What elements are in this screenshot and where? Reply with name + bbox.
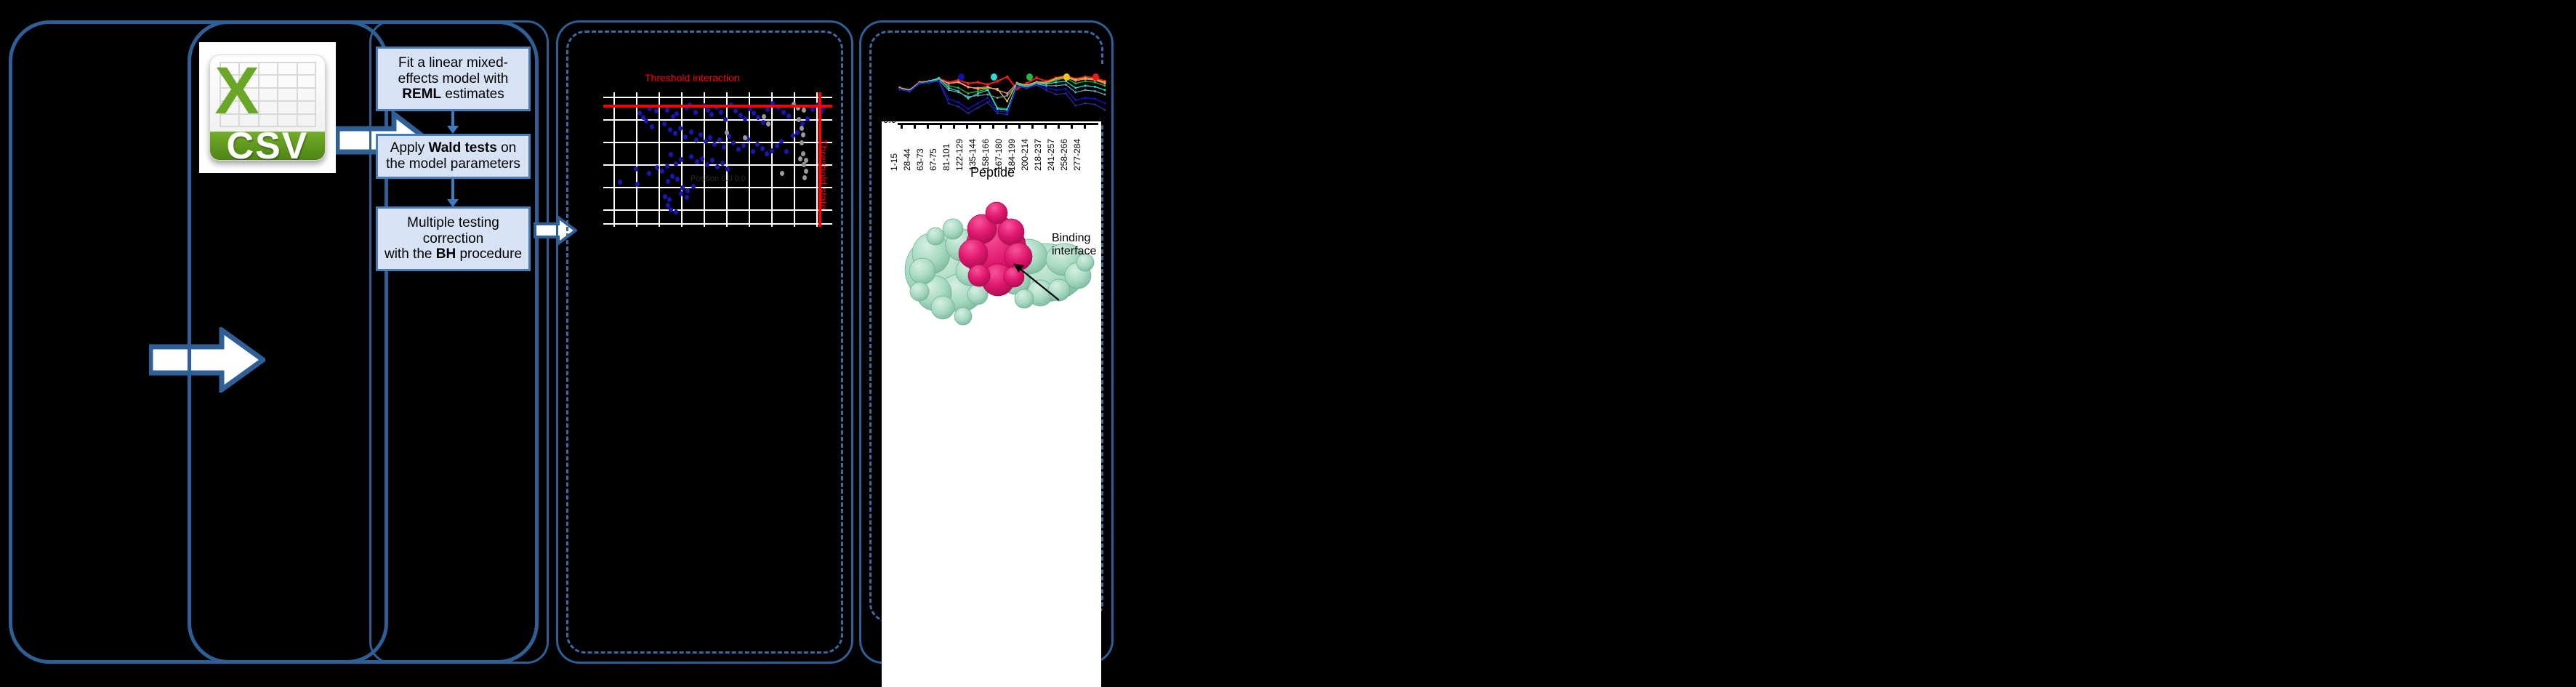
series-point	[909, 91, 911, 93]
x-tick-mark	[1045, 124, 1047, 129]
series-point	[1084, 80, 1087, 82]
series-point	[1016, 85, 1018, 87]
series-point	[1055, 81, 1057, 84]
series-point	[977, 92, 979, 95]
series-point	[1104, 89, 1106, 91]
step-bh: Multiple testing correction with the BH …	[376, 206, 531, 271]
series-point	[1055, 94, 1057, 96]
series-point	[1045, 84, 1047, 87]
x-tick-label: 28-44	[902, 148, 912, 171]
series-point	[1104, 82, 1106, 84]
series-point	[1006, 100, 1008, 103]
series-point	[1094, 103, 1096, 105]
series-point	[1084, 97, 1087, 99]
x-tick-mark	[979, 124, 981, 129]
x-tick-label: 277-284	[1072, 139, 1082, 171]
series-point	[1074, 99, 1076, 101]
pipeline-diagram: X CSV Fit a linear mixed- effects model …	[0, 0, 2576, 687]
series-point	[1084, 78, 1087, 80]
series-point	[967, 92, 970, 95]
series-point	[997, 97, 999, 99]
x-tick-label: 218-237	[1033, 139, 1043, 171]
series-point	[1026, 87, 1028, 89]
step-wald-text: Apply Wald tests on the model parameters	[386, 140, 520, 172]
legend-dot-darkblue	[958, 73, 965, 81]
csv-card: X CSV	[209, 55, 326, 161]
series-point	[957, 91, 959, 93]
series-point	[1055, 79, 1057, 81]
series-point	[997, 112, 999, 114]
model-panel	[369, 20, 549, 664]
series-point	[1065, 88, 1067, 90]
series-point	[986, 89, 989, 91]
series-point	[1055, 89, 1057, 91]
series-point	[1074, 82, 1076, 84]
step-model-fit-text: Fit a linear mixed- effects model with R…	[398, 55, 509, 103]
series-point	[948, 82, 950, 84]
csv-x-letter: X	[214, 57, 256, 105]
x-tick-label: 63-73	[915, 148, 925, 171]
x-tick-label: 81-101	[941, 144, 951, 171]
peptide-line-chart	[890, 64, 1108, 124]
series-point	[977, 95, 979, 97]
connector-1-2-head	[447, 126, 459, 134]
scatter-faint-axis-text: Position 0.0 0.0	[691, 174, 746, 183]
series-point	[986, 101, 989, 103]
series-point	[1006, 95, 1008, 97]
x-tick-mark	[992, 124, 994, 129]
series-point	[1045, 87, 1047, 89]
series-point	[1006, 76, 1009, 79]
series-point	[1074, 105, 1076, 107]
series-point	[957, 101, 959, 103]
threshold-state-label: Threshold state	[818, 140, 829, 210]
series-point	[1084, 89, 1087, 91]
series-point	[997, 89, 999, 91]
series-point	[1084, 103, 1087, 105]
series-point	[977, 107, 979, 109]
series-point	[948, 103, 950, 105]
legend-dot-yellow	[1063, 73, 1070, 81]
series-point	[967, 112, 970, 114]
legend-dot-cyan	[991, 73, 997, 81]
series-point	[1065, 92, 1067, 95]
series-point	[957, 105, 959, 108]
series-point	[1104, 103, 1106, 105]
legend-dot-red	[1092, 73, 1099, 81]
x-tick-mark	[1018, 124, 1021, 129]
step-wald: Apply Wald tests on the model parameters	[376, 134, 531, 179]
x-tick-mark	[1071, 124, 1073, 129]
x-tick-mark	[1031, 124, 1034, 129]
series-point	[977, 87, 979, 89]
series-point	[1104, 94, 1106, 96]
series-point	[948, 98, 950, 100]
threshold-interaction-line	[603, 105, 832, 108]
x-tick-mark	[901, 124, 903, 129]
series-point	[1094, 81, 1096, 84]
series-point	[967, 96, 970, 98]
series-point	[1065, 84, 1067, 86]
protein-structure-image: Binding interface	[890, 184, 1101, 333]
threshold-interaction-label: Threshold interaction	[645, 72, 740, 84]
csv-format-label: CSV	[227, 124, 309, 161]
series-point	[1035, 76, 1038, 79]
series-point	[918, 83, 920, 85]
series-point	[986, 94, 989, 96]
peptide-figure-block: 0.0 1-1528-4463-7367-7581-101122-129135-…	[882, 121, 1101, 687]
series-point	[1055, 84, 1057, 87]
series-point	[977, 90, 979, 92]
step-bh-text: Multiple testing correction with the BH …	[385, 215, 522, 262]
series-point	[976, 81, 979, 84]
series-point	[1094, 90, 1096, 92]
x-tick-mark	[1005, 124, 1007, 129]
x-tick-mark	[953, 124, 955, 129]
series-point	[1104, 109, 1106, 111]
x-tick-mark	[914, 124, 916, 129]
series-point	[957, 87, 959, 89]
series-point	[957, 81, 959, 84]
x-tick-mark	[1084, 124, 1086, 129]
volcano-scatter-plot: Threshold interaction Position 0.0 0.0	[603, 92, 832, 227]
x-tick-label: 241-257	[1046, 139, 1056, 171]
series-point	[1094, 86, 1096, 88]
series-point	[1045, 89, 1047, 91]
csv-file-icon: X CSV	[199, 42, 336, 173]
series-point	[948, 89, 950, 91]
series-point	[899, 89, 901, 91]
series-point	[1036, 84, 1038, 87]
series-point	[1074, 80, 1076, 82]
x-tick-mark	[966, 124, 968, 129]
step-model-fit: Fit a linear mixed- effects model with R…	[376, 47, 531, 111]
x-tick-label: 258-266	[1059, 139, 1069, 171]
series-point	[1084, 84, 1087, 87]
series-point	[967, 82, 970, 85]
x-tick-mark	[1058, 124, 1060, 129]
binding-interface-annotation: Binding interface	[1052, 232, 1096, 258]
series-point	[1074, 91, 1076, 93]
series-point	[928, 82, 930, 84]
series-point	[986, 86, 989, 88]
x-tick-mark	[927, 124, 929, 129]
series-point	[938, 77, 940, 79]
series-point	[967, 108, 970, 110]
series-point	[1104, 84, 1106, 87]
x-tick-label: 200-214	[1020, 139, 1030, 171]
x-axis-title: Peptide	[970, 165, 1015, 180]
x-tick-label: 122-129	[954, 139, 965, 171]
series-point	[977, 103, 979, 105]
series-point	[1074, 87, 1076, 89]
binding-label-line1: Binding	[1052, 232, 1096, 245]
x-tick-mark	[940, 124, 942, 129]
series-point	[986, 97, 989, 99]
series-point	[967, 87, 970, 89]
binding-label-line2: interface	[1052, 245, 1096, 258]
x-tick-label: 67-75	[928, 148, 938, 171]
series-point	[1006, 113, 1008, 116]
x-tick-label: 1-15	[889, 153, 899, 171]
csv-format-band: CSV	[210, 132, 325, 160]
legend-dot-green	[1026, 73, 1033, 81]
series-point	[986, 83, 989, 86]
series-point	[996, 80, 999, 83]
series-point	[1094, 98, 1096, 100]
scatter-plot-area: Position 0.0 0.0	[603, 92, 832, 227]
series-point	[938, 80, 940, 82]
peptide-chart-svg	[890, 64, 1108, 124]
